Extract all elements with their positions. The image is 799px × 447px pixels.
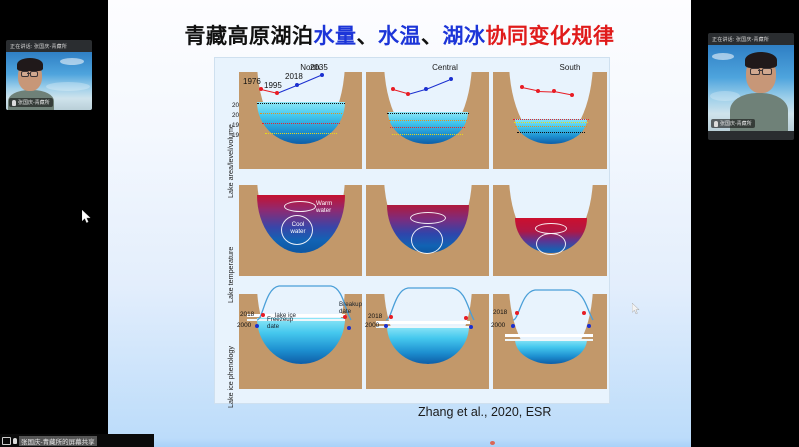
year-label-2000-central: 2000 xyxy=(365,322,379,329)
breakup-marker-2000 xyxy=(587,324,591,328)
participant-name-left: 张国庆-青藏所 xyxy=(9,98,53,107)
data-point xyxy=(536,89,540,93)
level-line-1995 xyxy=(392,134,463,135)
panel-north-temperature: Warm water Cool water xyxy=(239,185,362,276)
level-line-2035 xyxy=(517,132,585,133)
level-line-2018 xyxy=(389,120,467,121)
level-line-2035 xyxy=(257,103,345,104)
level-line-1976 xyxy=(513,119,589,120)
slide-pointer-dot xyxy=(490,441,495,445)
annotation-freezeup-date: Freezeup date xyxy=(267,316,293,330)
point-label-2035: 2035 xyxy=(310,63,328,72)
level-line-1995 xyxy=(265,133,337,134)
title-part-1: 水量 xyxy=(314,25,357,48)
column-title-south: South xyxy=(515,63,625,72)
level-line-1995 xyxy=(514,122,588,123)
mic-icon xyxy=(12,100,16,106)
data-point xyxy=(391,87,395,91)
point-label-1995: 1995 xyxy=(264,81,282,90)
title-part-3: 水温 xyxy=(378,25,421,48)
data-point xyxy=(520,85,524,89)
participant-name-right: 张国庆-青藏所 xyxy=(711,119,755,128)
video-frame-left: 张国庆-青藏所 xyxy=(6,52,92,110)
citation: Zhang et al., 2020, ESR xyxy=(418,405,650,419)
level-line-2018 xyxy=(515,126,587,127)
warm-circulation-ellipse xyxy=(410,212,446,224)
figure-lake-changes: North Central South Lake area/level/volu… xyxy=(214,57,610,404)
breakup-marker-2018 xyxy=(343,315,347,319)
ice-layer xyxy=(505,334,593,337)
video-frame-right: 张国庆-青藏所 xyxy=(708,45,794,131)
title-part-6: 协同变化规律 xyxy=(486,25,615,48)
panel-north-area xyxy=(239,72,362,169)
freezeup-marker-2018 xyxy=(389,315,393,319)
mic-icon xyxy=(13,438,17,444)
data-point xyxy=(552,89,556,93)
title-part-0: 青藏高原湖泊 xyxy=(185,25,314,48)
level-line-1976 xyxy=(262,123,340,124)
level-line-2035 xyxy=(387,113,469,114)
cool-circulation-ellipse xyxy=(411,226,443,254)
freezeup-marker-2000 xyxy=(384,324,388,328)
panel-central-temperature xyxy=(366,185,489,276)
screen-share-bar[interactable]: 张国庆-青藏所的屏幕共享 xyxy=(0,434,154,447)
year-label-2000-south: 2000 xyxy=(491,322,505,329)
annotation-warm-water: Warm water xyxy=(316,200,340,214)
panel-south-temperature xyxy=(493,185,607,276)
annotation-cool-water: Cool water xyxy=(287,221,309,235)
screen-share-icon xyxy=(2,437,11,445)
year-label-2018-north: 2018 xyxy=(240,311,254,318)
breakup-marker-2018 xyxy=(464,316,468,320)
title-part-4: 、 xyxy=(421,25,443,48)
speaking-label-left: 正在讲话: 张国庆-青藏所 xyxy=(6,40,92,52)
year-label-2018-south: 2018 xyxy=(493,309,507,316)
panel-central-area xyxy=(366,72,489,169)
data-point xyxy=(406,92,410,96)
freezeup-marker-2000 xyxy=(255,324,259,328)
title-part-2: 、 xyxy=(357,25,379,48)
data-point xyxy=(295,83,299,87)
title-part-5: 湖冰 xyxy=(443,25,486,48)
cool-circulation-ellipse xyxy=(536,233,566,255)
mic-icon xyxy=(714,121,718,127)
warm-circulation-ellipse xyxy=(284,201,316,212)
level-line-2018 xyxy=(260,113,342,114)
ice-duration-curve-south xyxy=(493,280,613,330)
data-point xyxy=(259,87,263,91)
data-point xyxy=(449,77,453,81)
speaking-label-right: 正在讲话: 张国庆-青藏所 xyxy=(708,33,794,45)
participant-video-left[interactable]: 正在讲话: 张国庆-青藏所 张国庆-青藏所 xyxy=(6,40,92,110)
participant-video-right[interactable]: 正在讲话: 张国庆-青藏所 张国庆-青藏所 xyxy=(708,33,794,140)
slide-bottom-edge xyxy=(108,438,691,447)
breakup-marker-2000 xyxy=(347,326,351,330)
point-label-1976: 1976 xyxy=(243,77,261,86)
year-label-2000-north: 2000 xyxy=(237,322,251,329)
ice-layer xyxy=(505,339,593,341)
data-point xyxy=(570,93,574,97)
data-point xyxy=(424,87,428,91)
data-point xyxy=(275,91,279,95)
breakup-marker-2000 xyxy=(469,325,473,329)
freezeup-marker-2000 xyxy=(511,324,515,328)
data-point xyxy=(320,73,324,77)
point-label-2018: 2018 xyxy=(285,72,303,81)
row-label-phenology: Lake ice phenology xyxy=(226,346,235,408)
screen-share-label: 张国庆-青藏所的屏幕共享 xyxy=(19,436,97,446)
row-label-temperature: Lake temperature xyxy=(226,247,235,303)
annotation-breakup-date: Breakup date xyxy=(339,301,365,315)
ice-duration-curve-central xyxy=(366,280,496,330)
water-body xyxy=(387,326,469,364)
column-title-central: Central xyxy=(390,63,500,72)
year-label-2018-central: 2018 xyxy=(368,313,382,320)
screen-root: 正在讲话: 张国庆-青藏所 张国庆-青藏所 正在讲话: 张国庆-青藏所 xyxy=(0,0,799,447)
level-line-1976 xyxy=(390,127,465,128)
breakup-marker-2018 xyxy=(582,311,586,315)
panel-south-area xyxy=(493,72,607,169)
water-body xyxy=(388,112,468,144)
water-body xyxy=(515,339,587,364)
freezeup-marker-2018 xyxy=(515,311,519,315)
freezeup-marker-2018 xyxy=(261,313,265,317)
page-title: 青藏高原湖泊水量、水温、湖冰协同变化规律 xyxy=(108,20,691,50)
